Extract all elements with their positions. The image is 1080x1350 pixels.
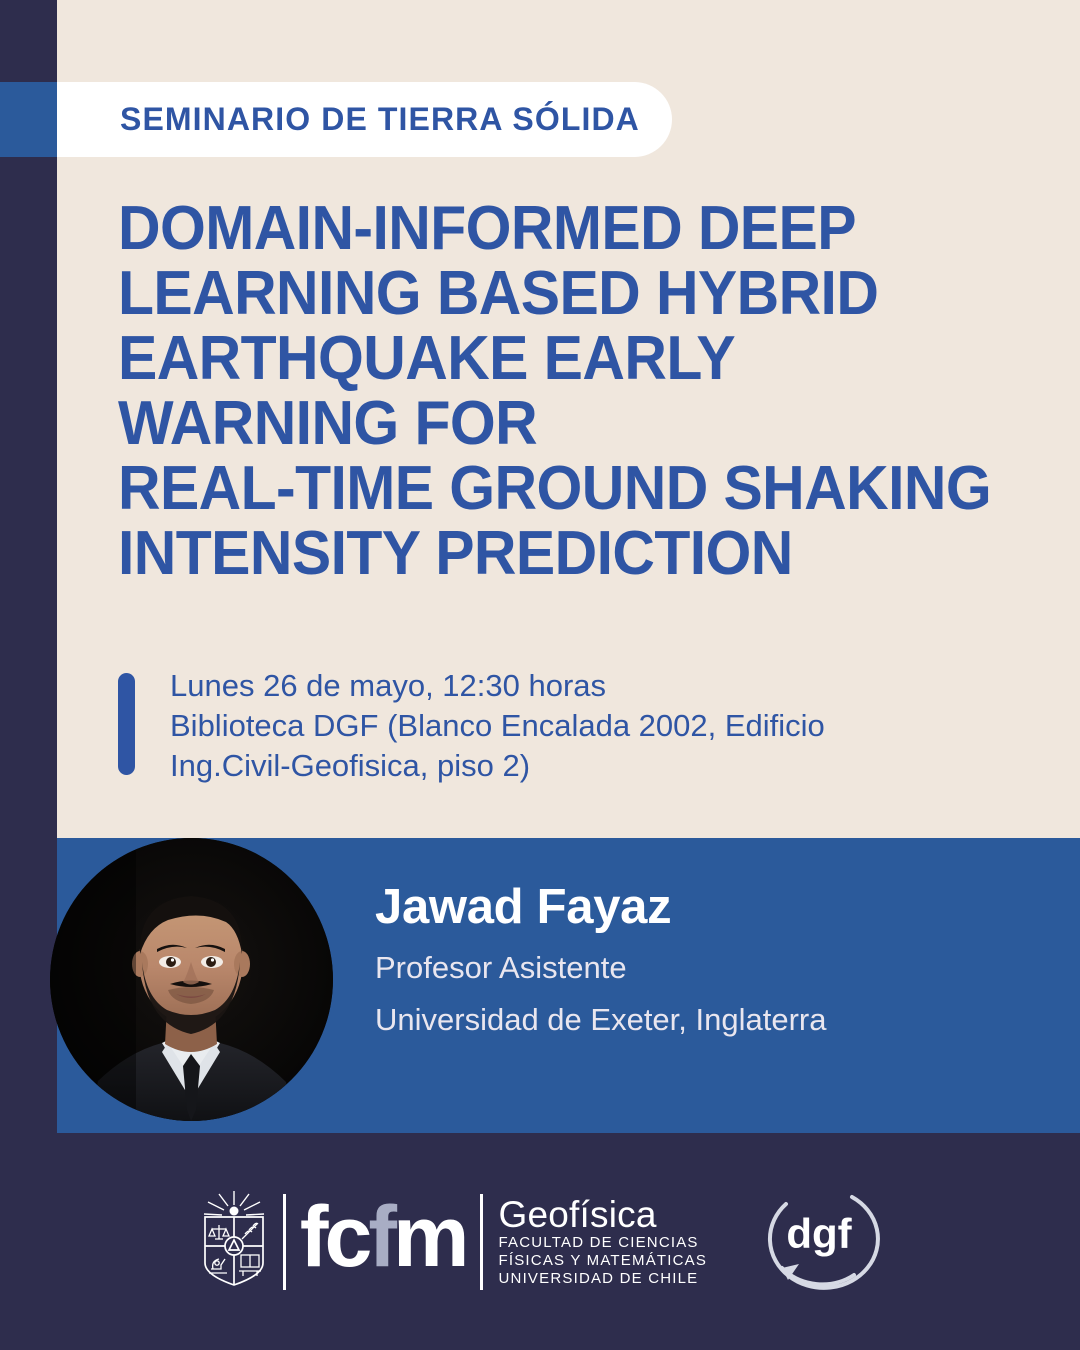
seminar-series-label: SEMINARIO DE TIERRA SÓLIDA bbox=[120, 101, 640, 138]
event-venue-line-1: Biblioteca DGF (Blanco Encalada 2002, Ed… bbox=[170, 706, 948, 746]
speaker-name: Jawad Fayaz bbox=[375, 878, 826, 936]
fcfm-logo-lockup: fcfm Geofísica FACULTAD DE CIENCIAS FÍSI… bbox=[197, 1189, 707, 1294]
footer-logos: fcfm Geofísica FACULTAD DE CIENCIAS FÍSI… bbox=[0, 1133, 1080, 1350]
speaker-affiliation: Universidad de Exeter, Inglaterra bbox=[375, 1000, 826, 1040]
geofisica-subtitle-line-3: UNIVERSIDAD DE CHILE bbox=[499, 1270, 708, 1288]
universidad-de-chile-crest-icon bbox=[197, 1189, 271, 1294]
fcfm-wordmark: fcfm bbox=[283, 1194, 483, 1290]
speaker-avatar bbox=[50, 838, 333, 1121]
geofisica-title: Geofísica bbox=[499, 1195, 708, 1234]
seminar-series-badge: SEMINARIO DE TIERRA SÓLIDA bbox=[57, 82, 672, 157]
dgf-logo: dgf bbox=[755, 1180, 883, 1303]
accent-bar bbox=[118, 673, 135, 775]
fcfm-wordmark-part-2: f bbox=[368, 1194, 393, 1280]
title-line: INTENSITY PREDICTION bbox=[118, 521, 1002, 586]
page-title: DOMAIN-INFORMED DEEP LEARNING BASED HYBR… bbox=[118, 196, 1002, 586]
left-edge-stripe-accent bbox=[0, 82, 57, 157]
event-venue-line-2: Ing.Civil-Geofisica, piso 2) bbox=[170, 746, 948, 786]
event-details-text: Lunes 26 de mayo, 12:30 horas Biblioteca… bbox=[170, 666, 948, 786]
fcfm-wordmark-part-3: m bbox=[393, 1194, 465, 1280]
speaker-info: Jawad Fayaz Profesor Asistente Universid… bbox=[375, 878, 826, 1040]
seminar-poster: SEMINARIO DE TIERRA SÓLIDA DOMAIN-INFORM… bbox=[0, 0, 1080, 1350]
event-datetime: Lunes 26 de mayo, 12:30 horas bbox=[170, 666, 948, 706]
title-line: DOMAIN-INFORMED DEEP bbox=[118, 196, 1002, 261]
title-line: LEARNING BASED HYBRID bbox=[118, 261, 1002, 326]
geofisica-subtitle-line-1: FACULTAD DE CIENCIAS bbox=[499, 1234, 708, 1252]
title-line: REAL-TIME GROUND SHAKING bbox=[118, 456, 1002, 521]
dgf-label: dgf bbox=[786, 1210, 852, 1257]
geofisica-subtitle-line-2: FÍSICAS Y MATEMÁTICAS bbox=[499, 1252, 708, 1270]
geofisica-logo-text: Geofísica FACULTAD DE CIENCIAS FÍSICAS Y… bbox=[499, 1195, 708, 1288]
speaker-role: Profesor Asistente bbox=[375, 948, 826, 988]
event-details: Lunes 26 de mayo, 12:30 horas Biblioteca… bbox=[118, 666, 948, 786]
fcfm-wordmark-part-1: fc bbox=[300, 1194, 368, 1280]
title-line: WARNING FOR bbox=[118, 391, 1002, 456]
title-line: EARTHQUAKE EARLY bbox=[118, 326, 1002, 391]
footer-bar: fcfm Geofísica FACULTAD DE CIENCIAS FÍSI… bbox=[0, 1133, 1080, 1350]
